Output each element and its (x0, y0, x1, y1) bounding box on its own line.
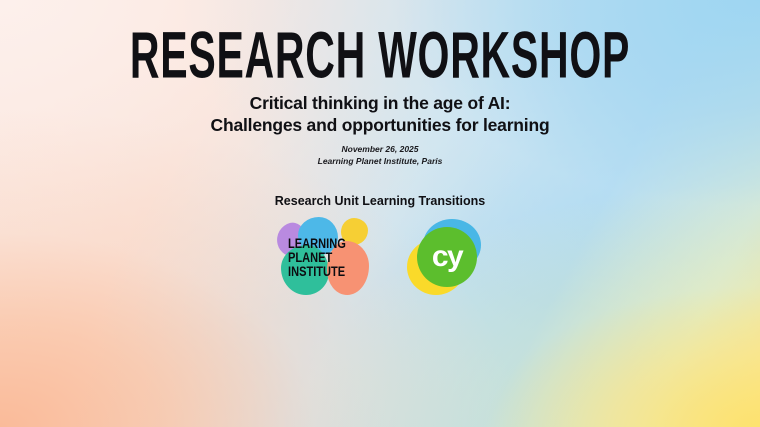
subtitle-line-2: Challenges and opportunities for learnin… (0, 114, 760, 136)
footer-logos-row: supported by UNESCO Chair in Learning Sc… (0, 320, 760, 404)
learning-planet-institute-logo: LEARNING PLANET INSTITUTE (275, 215, 371, 301)
page-title: RESEARCH WORKSHOP (106, 22, 653, 89)
poster-canvas: RESEARCH WORKSHOP Critical thinking in t… (0, 0, 760, 427)
lpi-word-3: INSTITUTE (288, 265, 349, 279)
main-logos-row: LEARNING PLANET INSTITUTE cy (0, 212, 760, 304)
lpi-wordmark: LEARNING PLANET INSTITUTE (288, 237, 349, 279)
subtitle-line-1: Critical thinking in the age of AI: (0, 92, 760, 114)
lpi-word-1: LEARNING (288, 237, 349, 251)
poster-subtitle: Critical thinking in the age of AI: Chal… (0, 92, 760, 136)
research-unit-label: Research Unit Learning Transitions (0, 194, 760, 208)
event-date: November 26, 2025 (0, 144, 760, 156)
lpi-word-2: PLANET (288, 251, 349, 265)
event-venue: Learning Planet Institute, Paris (0, 156, 760, 168)
cy-university-logo: cy (407, 219, 485, 297)
cy-letters: cy (417, 227, 477, 287)
event-meta: November 26, 2025 Learning Planet Instit… (0, 144, 760, 167)
